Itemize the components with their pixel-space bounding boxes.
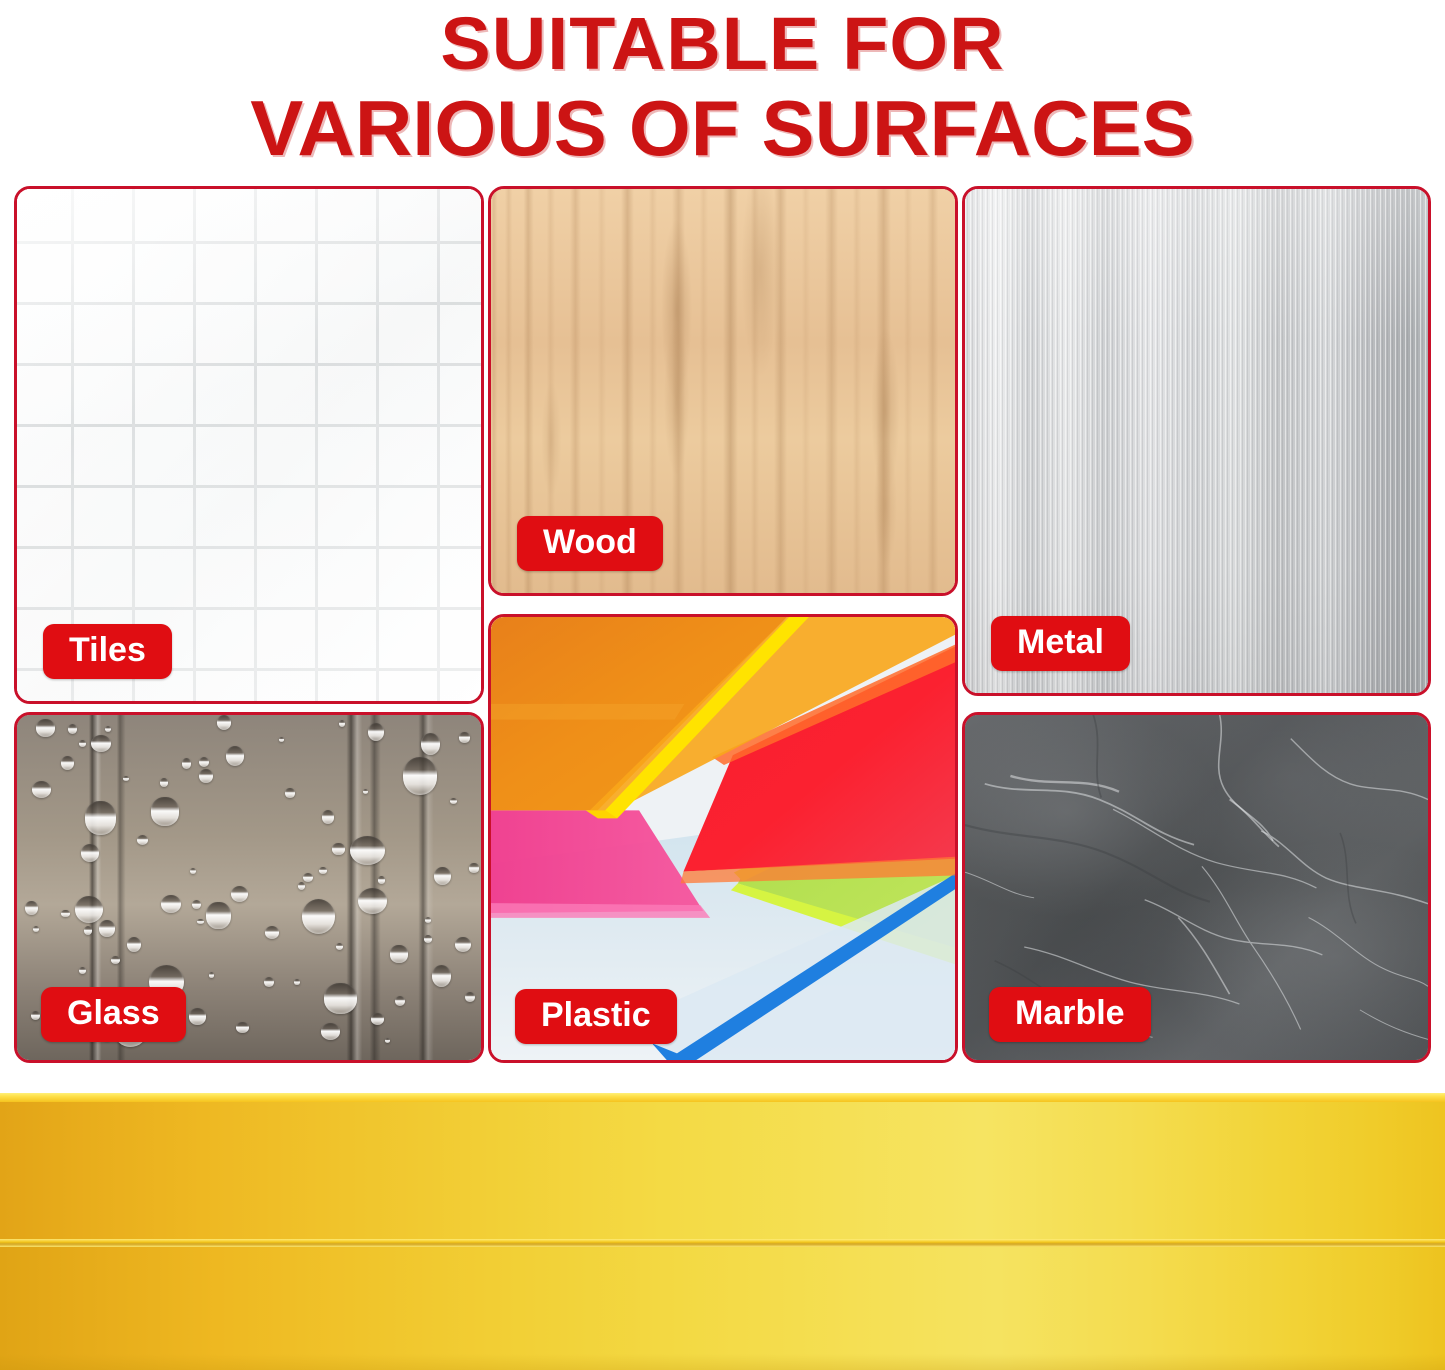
squeegee-top-highlight	[0, 1093, 1445, 1102]
surface-card-wood: Wood	[488, 186, 958, 596]
surface-label-marble: Marble	[989, 987, 1151, 1042]
surface-card-metal: Metal	[962, 186, 1431, 696]
squeegee-upper-face	[0, 1102, 1445, 1243]
surface-label-metal: Metal	[991, 616, 1130, 671]
squeegee-ridge-line	[0, 1239, 1445, 1247]
page-title: SUITABLE FOR VARIOUS OF SURFACES	[0, 0, 1445, 170]
surface-label-tiles: Tiles	[43, 624, 172, 679]
squeegee-bottom-shadow	[0, 1354, 1445, 1370]
surface-panel-grid: Tiles Wood Metal Glass	[14, 186, 1431, 1063]
surface-card-glass: Glass	[14, 712, 484, 1063]
page-title-line-2: VARIOUS OF SURFACES	[0, 86, 1445, 170]
product-squeegee-bar	[0, 1093, 1445, 1370]
surface-label-plastic: Plastic	[515, 989, 677, 1044]
surface-label-wood: Wood	[517, 516, 663, 571]
surface-card-plastic: Plastic	[488, 614, 958, 1063]
surface-card-tiles: Tiles	[14, 186, 484, 704]
page-title-line-1: SUITABLE FOR	[0, 0, 1445, 86]
squeegee-lower-face	[0, 1247, 1445, 1370]
surface-card-marble: Marble	[962, 712, 1431, 1063]
surface-label-glass: Glass	[41, 987, 186, 1042]
